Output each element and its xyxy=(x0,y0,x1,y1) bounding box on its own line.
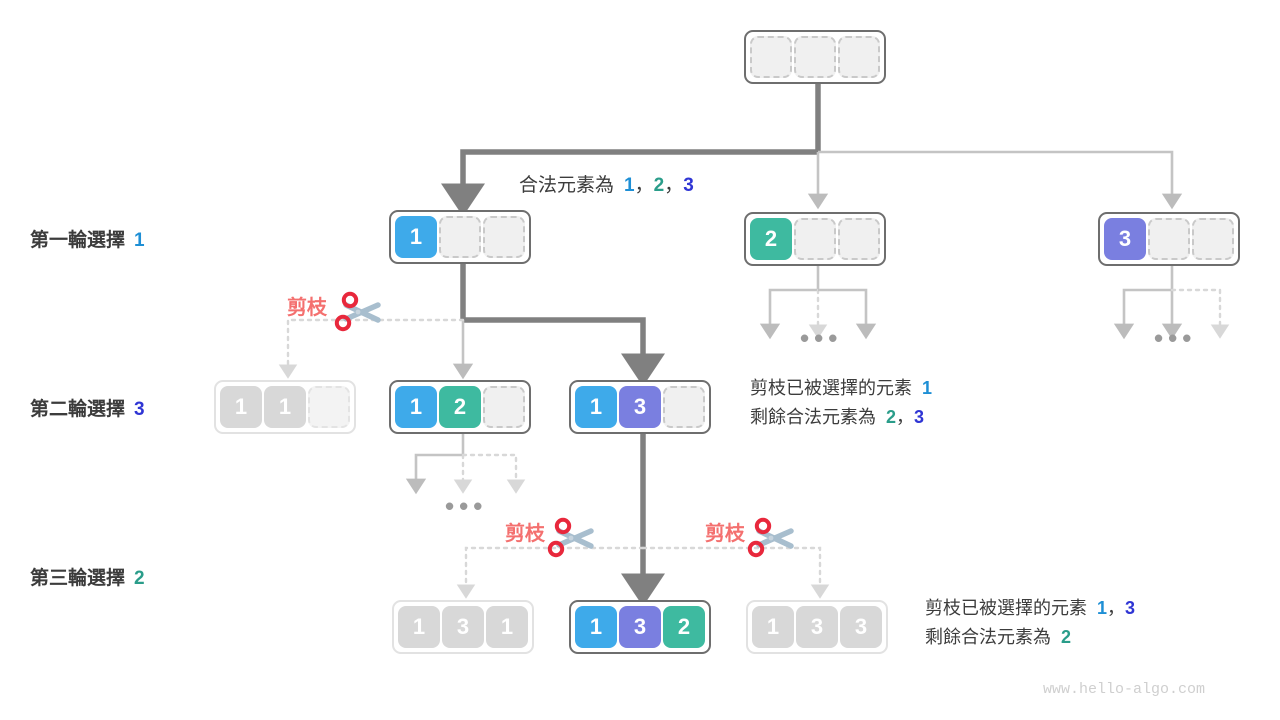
array-cell: 1 xyxy=(486,606,528,648)
note-line-1: 剪枝已被選擇的元素1，3 xyxy=(925,594,1135,623)
scissors-icon-2 xyxy=(550,520,591,555)
prune-label-2: 剪枝 xyxy=(505,517,545,546)
legend-separator: ， xyxy=(635,175,654,196)
array-cell: 1 xyxy=(220,386,262,428)
row-label-number: 2 xyxy=(134,568,145,589)
array-cell: 1 xyxy=(395,216,437,258)
note-number: 3 xyxy=(914,407,924,427)
node-level2-b[interactable]: 12 xyxy=(389,380,531,434)
array-cell: 1 xyxy=(264,386,306,428)
edge-n13-to-n133-pruned xyxy=(643,548,820,592)
row-label-text: 第二輪選擇 xyxy=(30,399,125,420)
note-number: 1 xyxy=(922,378,932,398)
edge-n1-to-n13 xyxy=(463,320,643,370)
array-cell xyxy=(750,36,792,78)
node-level1-a[interactable]: 1 xyxy=(389,210,531,264)
row-label-round-1: 第一輪選擇1 xyxy=(30,225,145,252)
note-prefix: 剪枝已被選擇的元素 xyxy=(925,598,1087,618)
row-label-text: 第三輪選擇 xyxy=(30,568,125,589)
row-label-number: 1 xyxy=(134,230,145,251)
edge-branch-bar-light xyxy=(818,152,1172,202)
array-cell: 3 xyxy=(1104,218,1146,260)
scissors-icon-3 xyxy=(750,520,791,555)
row-label-number: 3 xyxy=(134,399,145,420)
legend-valid-elements: 合法元素為1，2，3 xyxy=(519,170,694,197)
note-number: 3 xyxy=(1125,598,1135,618)
array-cell: 2 xyxy=(750,218,792,260)
array-cell: 1 xyxy=(752,606,794,648)
note-number: 2 xyxy=(1061,627,1071,647)
note-separator: ， xyxy=(896,407,914,427)
node-level3-b[interactable]: 132 xyxy=(569,600,711,654)
node-level2-c[interactable]: 13 xyxy=(569,380,711,434)
array-cell xyxy=(663,386,705,428)
array-cell: 1 xyxy=(575,606,617,648)
node-level2-a-pruned[interactable]: 11 xyxy=(214,380,356,434)
array-cell xyxy=(838,36,880,78)
ellipsis-under-node3: ••• xyxy=(1154,325,1196,351)
note-line-1: 剪枝已被選擇的元素1 xyxy=(750,374,932,403)
prune-label-1: 剪枝 xyxy=(287,291,327,320)
array-cell xyxy=(483,216,525,258)
array-cell xyxy=(1192,218,1234,260)
note-prefix: 剪枝已被選擇的元素 xyxy=(750,378,912,398)
note-level3: 剪枝已被選擇的元素1，3 剩餘合法元素為2 xyxy=(925,594,1135,652)
edge-n12-child-right xyxy=(463,455,516,487)
array-cell: 3 xyxy=(840,606,882,648)
ellipsis-under-node12: ••• xyxy=(445,493,487,519)
note-separator: ， xyxy=(1107,598,1125,618)
array-cell: 1 xyxy=(398,606,440,648)
prune-label-3: 剪枝 xyxy=(705,517,745,546)
note-level2: 剪枝已被選擇的元素1 剩餘合法元素為2，3 xyxy=(750,374,932,432)
array-cell: 2 xyxy=(663,606,705,648)
node-level1-b[interactable]: 2 xyxy=(744,212,886,266)
row-label-round-2: 第二輪選擇3 xyxy=(30,394,145,421)
diagram-canvas: 1 2 3 11 12 13 131 132 133 第一輪選擇1 第二輪選擇3… xyxy=(0,0,1280,720)
array-cell: 3 xyxy=(796,606,838,648)
row-label-text: 第一輪選擇 xyxy=(30,230,125,251)
note-number: 1 xyxy=(1097,598,1107,618)
legend-prefix: 合法元素為 xyxy=(519,175,614,196)
array-cell xyxy=(1148,218,1190,260)
array-cell: 2 xyxy=(439,386,481,428)
array-cell: 1 xyxy=(575,386,617,428)
array-cell xyxy=(483,386,525,428)
row-label-round-3: 第三輪選擇2 xyxy=(30,563,145,590)
node-level3-c-pruned[interactable]: 133 xyxy=(746,600,888,654)
edge-n12-child-left xyxy=(416,455,463,487)
node-level3-a-pruned[interactable]: 131 xyxy=(392,600,534,654)
legend-number-1: 1 xyxy=(624,175,635,196)
watermark: www.hello-algo.com xyxy=(1043,681,1205,698)
legend-number-2: 2 xyxy=(654,175,665,196)
array-cell: 3 xyxy=(619,606,661,648)
array-cell: 3 xyxy=(619,386,661,428)
node-level1-c[interactable]: 3 xyxy=(1098,212,1240,266)
edge-n1-to-n11-pruned xyxy=(288,320,463,372)
legend-number-3: 3 xyxy=(683,175,694,196)
ellipsis-under-node2: ••• xyxy=(800,325,842,351)
note-line-2: 剩餘合法元素為2，3 xyxy=(750,403,932,432)
edge-n13-to-n131-pruned xyxy=(466,548,643,592)
array-cell: 3 xyxy=(442,606,484,648)
note-number: 2 xyxy=(886,407,896,427)
scissors-icon-1 xyxy=(337,294,378,329)
array-cell xyxy=(439,216,481,258)
array-cell xyxy=(794,218,836,260)
array-cell xyxy=(838,218,880,260)
note-prefix: 剩餘合法元素為 xyxy=(925,627,1051,647)
note-prefix: 剩餘合法元素為 xyxy=(750,407,876,427)
node-root[interactable] xyxy=(744,30,886,84)
legend-separator: ， xyxy=(664,175,683,196)
array-cell xyxy=(794,36,836,78)
array-cell: 1 xyxy=(395,386,437,428)
array-cell xyxy=(308,386,350,428)
note-line-2: 剩餘合法元素為2 xyxy=(925,623,1135,652)
